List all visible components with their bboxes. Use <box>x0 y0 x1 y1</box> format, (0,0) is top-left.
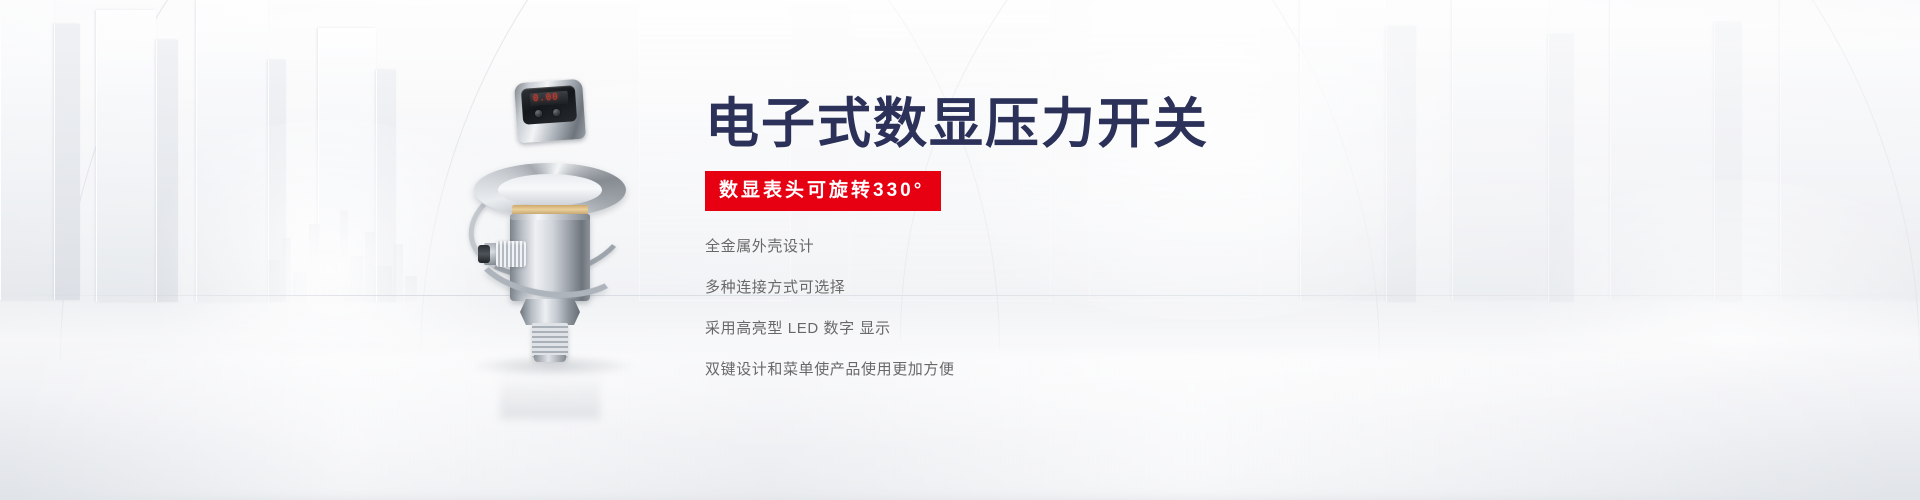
badge-row: 数显表头可旋转330° <box>705 153 1345 212</box>
structure-column <box>0 0 54 300</box>
thread-tip <box>534 355 566 362</box>
m12-connector <box>496 241 526 267</box>
banner-headline: 电子式数显压力开关 <box>705 96 1345 153</box>
feature-list: 全金属外壳设计 多种连接方式可选择 采用高亮型 LED 数字 显示 双键设计和菜… <box>705 239 1345 377</box>
led-display-value: 0.00 <box>533 92 559 105</box>
feature-item: 采用高亮型 LED 数字 显示 <box>705 321 1345 336</box>
structure-column <box>96 10 156 302</box>
product-banner: 0.00 电子式数显压力开关 数显表头可旋转330° 全金属外壳设计 多种连接方… <box>0 0 1920 500</box>
hex-nut <box>520 299 580 325</box>
structure-panel <box>1610 0 1714 300</box>
connector-cap <box>478 245 490 263</box>
highlight-badge: 数显表头可旋转330° <box>705 171 941 212</box>
structure-column <box>156 40 178 302</box>
structure-panel <box>1780 0 1920 300</box>
feature-item: 双键设计和菜单使产品使用更加方便 <box>705 362 1345 377</box>
product-reflection <box>500 365 600 419</box>
structure-panel <box>1452 0 1548 300</box>
product-image: 0.00 <box>440 55 650 355</box>
led-display: 0.00 <box>530 91 569 107</box>
structure-column <box>54 24 80 300</box>
feature-item: 全金属外壳设计 <box>705 239 1345 254</box>
feature-item: 多种连接方式可选择 <box>705 280 1345 295</box>
banner-content: 电子式数显压力开关 数显表头可旋转330° 全金属外壳设计 多种连接方式可选择 … <box>705 96 1345 377</box>
structure-panel <box>1548 34 1574 302</box>
structure-panel <box>1386 26 1416 302</box>
threaded-process-connection <box>532 323 568 359</box>
rotating-collar-inner <box>498 174 602 206</box>
structure-column <box>196 0 268 302</box>
structure-panel <box>1714 22 1742 302</box>
